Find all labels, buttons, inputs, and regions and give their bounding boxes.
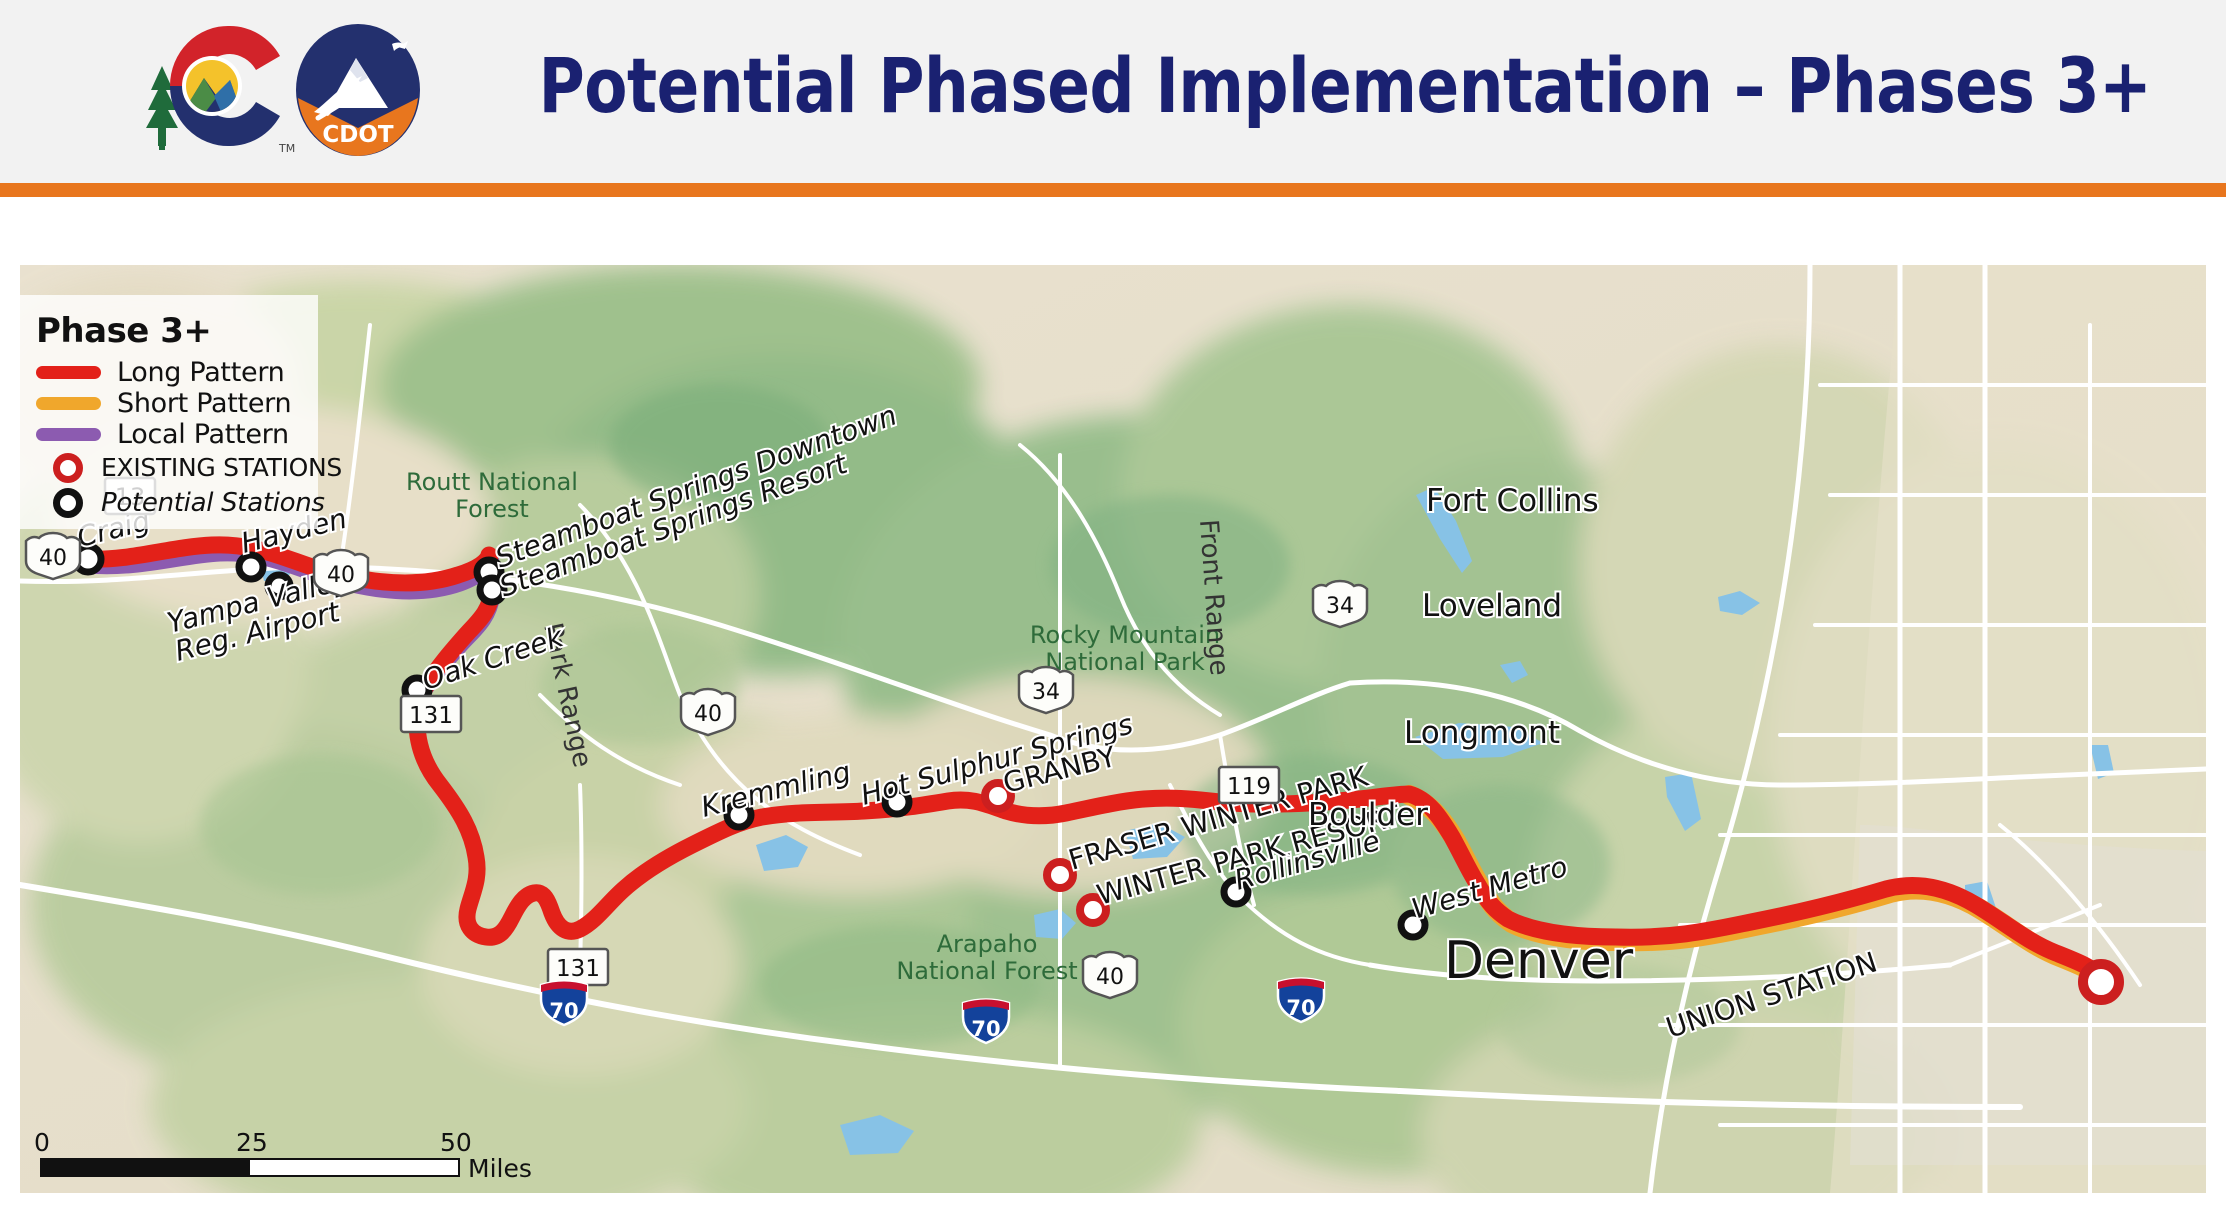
map-canvas[interactable]: Routt National Forest Rocky Mountain Nat… [20, 265, 2206, 1193]
cdot-wordmark: CDOT [322, 122, 394, 148]
svg-text:Fort Collins: Fort Collins [1426, 483, 1599, 519]
denver-urban-area [1850, 825, 2206, 1165]
existing-station-icon [53, 453, 83, 483]
svg-text:70: 70 [971, 1017, 1000, 1041]
svg-text:70: 70 [549, 999, 578, 1023]
scalebar-ticks: 0 25 50 [40, 1128, 480, 1154]
svg-text:119: 119 [1227, 774, 1271, 800]
short-pattern-swatch [36, 397, 101, 410]
svg-text:34: 34 [1326, 594, 1354, 619]
svg-text:Forest: Forest [455, 495, 529, 523]
potential-stations-label: Potential Stations [101, 488, 325, 518]
svg-text:131: 131 [409, 703, 453, 729]
header-accent-rule [0, 183, 2226, 197]
scalebar-tick-50: 50 [440, 1128, 472, 1157]
long-pattern-label: Long Pattern [117, 357, 284, 388]
colorado-state-logo: TM [118, 18, 298, 158]
map-graphic[interactable]: Routt National Forest Rocky Mountain Nat… [20, 265, 2206, 1193]
scalebar-segment-filled [42, 1160, 250, 1175]
page-title: Potential Phased Implementation – Phases… [586, 30, 2104, 140]
scalebar-segment-empty [250, 1160, 458, 1175]
scalebar-tick-25: 25 [236, 1128, 268, 1157]
svg-text:131: 131 [556, 956, 600, 982]
long-pattern-swatch [36, 366, 101, 379]
svg-text:34: 34 [1032, 680, 1060, 705]
svg-text:40: 40 [694, 702, 722, 727]
svg-text:70: 70 [1286, 996, 1315, 1020]
svg-text:Longmont: Longmont [1404, 715, 1560, 751]
map-scalebar: 0 25 50 Miles [40, 1128, 480, 1188]
short-pattern-label: Short Pattern [117, 388, 291, 419]
svg-text:40: 40 [39, 546, 67, 571]
legend-row-short-pattern: Short Pattern [36, 388, 318, 419]
svg-text:Routt National: Routt National [406, 468, 578, 496]
scalebar-units: Miles [468, 1154, 532, 1183]
svg-text:Arapaho: Arapaho [937, 930, 1038, 958]
svg-text:40: 40 [1096, 965, 1124, 990]
legend-row-local-pattern: Local Pattern [36, 419, 318, 450]
page-header: TM CDOT Potential Phased Implementation … [0, 0, 2226, 183]
cdot-logo: CDOT [288, 20, 428, 160]
existing-stations-label: EXISTING STATIONS [101, 453, 342, 482]
local-pattern-label: Local Pattern [117, 419, 289, 450]
potential-station-icon [53, 488, 83, 518]
svg-text:Boulder: Boulder [1308, 797, 1428, 833]
scalebar-bar [40, 1158, 460, 1177]
legend-title: Phase 3+ [36, 311, 318, 351]
map-legend: Phase 3+ Long Pattern Short Pattern Loca… [14, 295, 318, 529]
legend-row-existing-stations: EXISTING STATIONS [36, 450, 318, 485]
svg-text:Loveland: Loveland [1422, 588, 1562, 624]
header-spacer [0, 197, 2226, 267]
svg-text:Denver: Denver [1444, 931, 1634, 991]
legend-row-potential-stations: Potential Stations [36, 485, 318, 520]
local-pattern-swatch [36, 428, 101, 441]
legend-row-long-pattern: Long Pattern [36, 357, 318, 388]
mountain-circle-icon [182, 56, 242, 116]
svg-text:40: 40 [327, 563, 355, 588]
svg-text:Rocky Mountain: Rocky Mountain [1030, 621, 1220, 649]
scalebar-tick-0: 0 [34, 1128, 50, 1157]
svg-text:National Forest: National Forest [896, 957, 1077, 985]
